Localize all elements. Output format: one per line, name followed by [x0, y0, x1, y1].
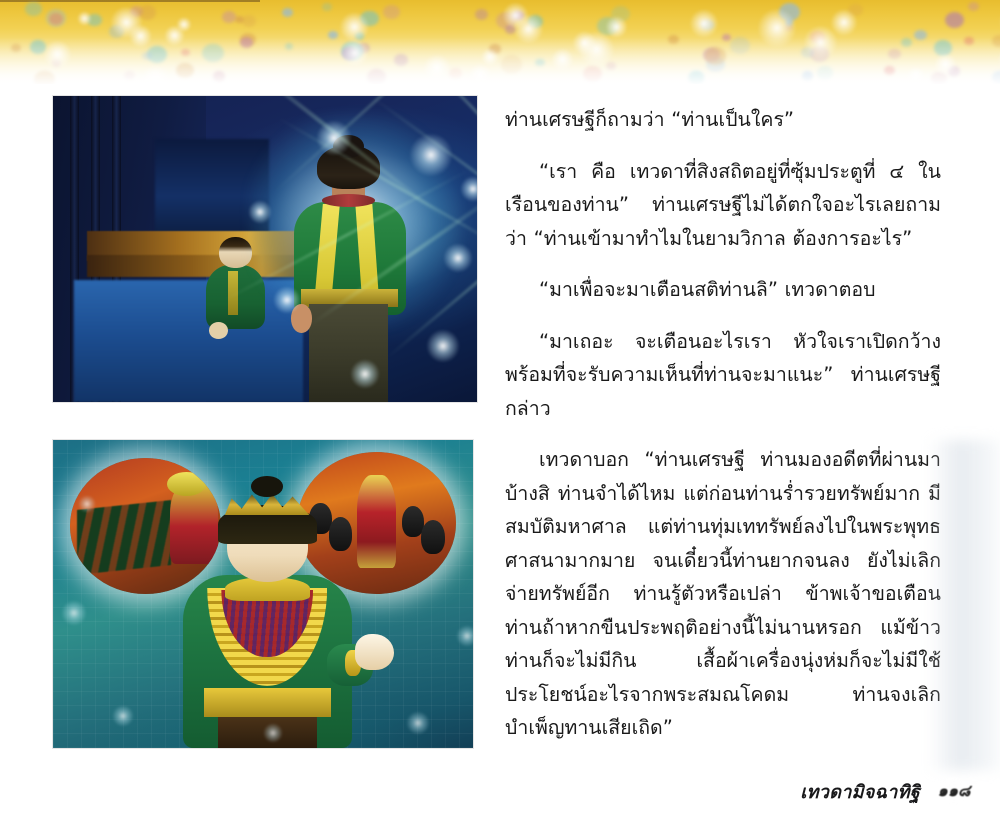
blossom-icon: [213, 71, 225, 81]
footer-chapter-title: เทวดามิจฉาทิฐิ: [800, 777, 920, 806]
body-text-column: ท่านเศรษฐีก็ถามว่า “ท่านเป็นใคร” “เรา คื…: [505, 103, 941, 745]
star-sparkle-icon: [406, 711, 430, 735]
band-rule-line: [0, 0, 260, 2]
blossom-icon: [535, 59, 544, 67]
blossom-icon: [968, 2, 979, 11]
blossom-icon: [914, 30, 926, 41]
star-sparkle-icon: [248, 200, 272, 224]
sparkle-icon: [469, 64, 491, 84]
blossom-icon: [383, 5, 400, 19]
sparkle-icon: [481, 48, 498, 65]
standing-figure-collar: [322, 194, 375, 207]
sparkle-icon: [551, 48, 574, 71]
page-footer: เทวดามิจฉาทิฐิ ๑๑๘: [0, 769, 1000, 829]
blossom-icon: [11, 44, 21, 52]
footer-inner: เทวดามิจฉาทิฐิ ๑๑๘: [800, 767, 978, 815]
blossom-icon: [34, 71, 55, 84]
blossom-icon: [328, 31, 338, 39]
blossom-icon: [367, 69, 386, 84]
sparkle-icon: [141, 65, 169, 84]
sparkle-icon: [423, 54, 451, 82]
star-sparkle-icon: [426, 329, 460, 363]
paragraph-2: “เรา คือ เทวดาที่สิงสถิตอยู่ที่ซุ้มประตู…: [505, 155, 941, 256]
sparkle-icon: [339, 12, 370, 43]
star-sparkle-icon: [443, 243, 473, 273]
blossom-icon: [901, 38, 912, 47]
blossom-icon: [449, 68, 462, 79]
sparkle-icon: [176, 17, 192, 33]
blossom-icon: [688, 71, 704, 84]
deva-figure: [179, 489, 355, 748]
blossom-icon: [888, 49, 900, 60]
sparkle-icon: [341, 39, 369, 67]
star-sparkle-icon: [273, 286, 301, 314]
blossom-icon: [668, 35, 679, 44]
page-number: ๑๑๘: [930, 767, 978, 815]
top-decorative-band: [0, 0, 1000, 84]
paragraph-3: “มาเพื่อจะมาเตือนสติท่านลิ” เทวดาตอบ: [505, 273, 941, 307]
blossom-icon: [282, 8, 293, 17]
almsgiver-figure: [357, 475, 395, 569]
sparkle-icon: [110, 6, 143, 39]
seated-figure-head: [219, 237, 252, 268]
blossom-icon: [964, 37, 974, 45]
blossom-icon: [992, 35, 1000, 48]
blossom-icon: [501, 55, 523, 73]
deva-hand: [355, 634, 394, 670]
blossom-icon: [222, 11, 236, 23]
deva-waist-sash: [204, 688, 331, 716]
blossom-icon: [322, 3, 332, 12]
blossom-icon: [176, 63, 194, 78]
blossom-icon: [802, 71, 814, 81]
sparkle-icon: [803, 25, 838, 60]
illustration-deity-vision-scene: [53, 440, 473, 748]
blossom-icon: [242, 15, 256, 27]
blossom-icon: [181, 49, 190, 57]
blossom-icon: [235, 16, 244, 23]
blossom-icon: [475, 9, 489, 21]
star-sparkle-icon: [460, 176, 477, 202]
star-sparkle-icon: [112, 705, 134, 727]
star-sparkle-icon: [456, 625, 473, 647]
sparkle-icon: [934, 53, 957, 76]
paragraph-5: เทวดาบอก “ท่านเศรษฐี ท่านมองอดีตที่ผ่านม…: [505, 443, 941, 745]
blossom-icon: [583, 66, 602, 82]
blossom-icon: [817, 66, 833, 80]
crowd-figure-4: [421, 520, 445, 554]
illustration-night-scene: [53, 96, 477, 402]
blossom-icon: [124, 71, 135, 80]
rainbow-pinwheel-icon: ๑๑๘: [930, 767, 978, 815]
blossom-icon: [25, 2, 42, 17]
star-sparkle-icon: [409, 133, 453, 177]
blossom-icon: [722, 34, 731, 42]
blossom-icon: [202, 44, 224, 63]
star-sparkle-icon: [350, 359, 380, 389]
sparkle-icon: [757, 8, 797, 48]
blossom-icon: [730, 37, 750, 54]
sparkle-icon: [572, 31, 596, 55]
seated-figure-hand: [209, 322, 228, 339]
blossom-icon: [992, 71, 1000, 84]
sparkle-icon: [689, 9, 718, 38]
blossom-icon: [240, 37, 253, 48]
blossom-icon: [945, 12, 964, 28]
sparkle-icon: [907, 67, 925, 84]
blossom-icon: [394, 54, 408, 66]
sparkle-icon: [43, 40, 72, 69]
blossom-icon: [285, 43, 293, 50]
sparkle-icon: [513, 14, 543, 44]
deva-topknot: [251, 476, 283, 497]
paragraph-1: ท่านเศรษฐีก็ถามว่า “ท่านเป็นใคร”: [505, 103, 941, 137]
blossom-icon: [884, 66, 895, 76]
paragraph-4: “มาเถอะ จะเตือนอะไรเรา หัวใจเราเปิดกว้าง…: [505, 325, 941, 426]
